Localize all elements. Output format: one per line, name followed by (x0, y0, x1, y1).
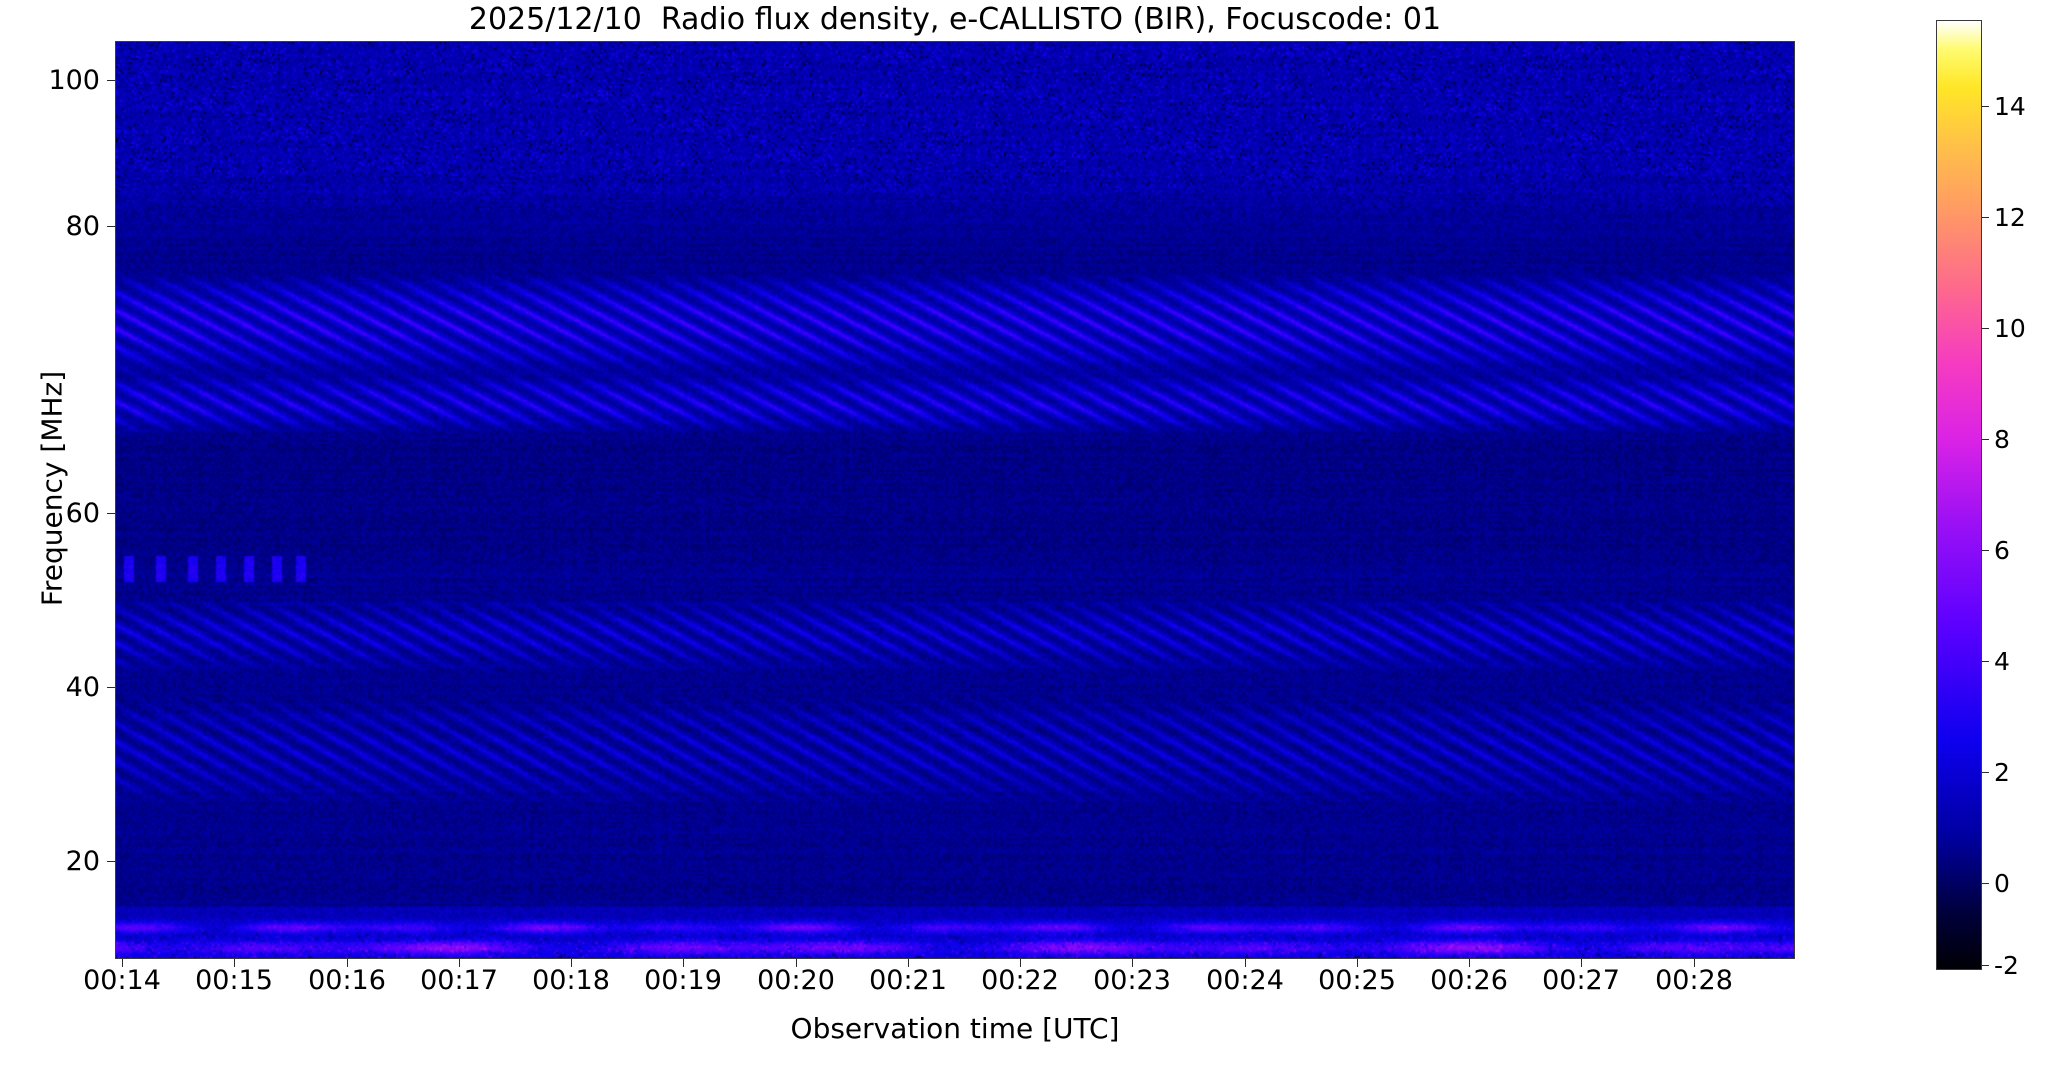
y-tick-mark (107, 226, 115, 227)
y-tick-mark (107, 687, 115, 688)
x-tick-mark (1469, 959, 1470, 967)
y-tick-mark (107, 80, 115, 81)
spectrogram-plot-area[interactable] (115, 41, 1795, 959)
colorbar-tick-mark (1982, 883, 1989, 884)
colorbar-tick-mark (1982, 965, 1989, 966)
x-tick-mark (1357, 959, 1358, 967)
page-title: 2025/12/10 Radio flux density, e-CALLIST… (115, 2, 1795, 37)
x-tick-mark (796, 959, 797, 967)
x-tick-label: 00:19 (623, 967, 743, 995)
colorbar-tick-mark (1982, 550, 1989, 551)
x-tick-mark (571, 959, 572, 967)
x-tick-label: 00:14 (62, 967, 182, 995)
x-tick-label: 00:21 (848, 967, 968, 995)
y-tick-label: 20 (16, 848, 100, 875)
colorbar-tick-label: 4 (1994, 649, 2010, 674)
colorbar-tick-label: 12 (1994, 205, 2026, 230)
x-tick-mark (459, 959, 460, 967)
colorbar-tick-label: -2 (1994, 953, 2019, 978)
x-tick-label: 00:24 (1185, 967, 1305, 995)
x-tick-mark (1132, 959, 1133, 967)
y-tick-mark (107, 861, 115, 862)
x-tick-label: 00:20 (736, 967, 856, 995)
y-tick-label: 80 (16, 213, 100, 240)
colorbar-tick-mark (1982, 661, 1989, 662)
x-tick-label: 00:17 (399, 967, 519, 995)
x-tick-label: 00:27 (1521, 967, 1641, 995)
x-tick-label: 00:23 (1072, 967, 1192, 995)
x-axis-label: Observation time [UTC] (115, 1012, 1795, 1045)
colorbar-tick-label: 6 (1994, 538, 2010, 563)
x-tick-mark (1694, 959, 1695, 967)
x-tick-label: 00:22 (960, 967, 1080, 995)
x-tick-label: 00:28 (1634, 967, 1754, 995)
x-tick-label: 00:15 (174, 967, 294, 995)
colorbar-tick-label: 0 (1994, 871, 2010, 896)
x-tick-mark (122, 959, 123, 967)
x-tick-mark (908, 959, 909, 967)
x-tick-label: 00:18 (511, 967, 631, 995)
colorbar[interactable]: 14121086420-2 (1936, 20, 1982, 970)
y-tick-mark (107, 513, 115, 514)
x-tick-label: 00:16 (287, 967, 407, 995)
colorbar-tick-label: 8 (1994, 427, 2010, 452)
colorbar-gradient (1936, 20, 1982, 970)
y-tick-label: 40 (16, 674, 100, 701)
colorbar-tick-mark (1982, 217, 1989, 218)
colorbar-tick-label: 2 (1994, 760, 2010, 785)
x-tick-label: 00:26 (1409, 967, 1529, 995)
x-tick-mark (234, 959, 235, 967)
y-tick-label: 60 (16, 500, 100, 527)
x-tick-mark (347, 959, 348, 967)
x-tick-mark (1020, 959, 1021, 967)
colorbar-tick-mark (1982, 106, 1989, 107)
x-tick-mark (1581, 959, 1582, 967)
spectrogram-image (116, 42, 1795, 959)
colorbar-tick-label: 14 (1994, 94, 2026, 119)
colorbar-tick-mark (1982, 439, 1989, 440)
spectrogram-figure: 2025/12/10 Radio flux density, e-CALLIST… (0, 0, 2066, 1067)
x-tick-mark (683, 959, 684, 967)
colorbar-tick-label: 10 (1994, 316, 2026, 341)
y-tick-label: 100 (16, 67, 100, 94)
x-tick-mark (1245, 959, 1246, 967)
x-tick-label: 00:25 (1297, 967, 1417, 995)
colorbar-tick-mark (1982, 328, 1989, 329)
colorbar-tick-mark (1982, 772, 1989, 773)
